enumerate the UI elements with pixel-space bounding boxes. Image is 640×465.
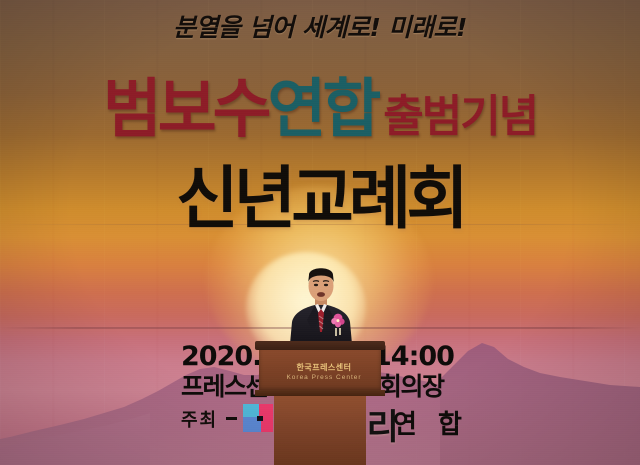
- speaker-person: [282, 262, 360, 344]
- headline-part-launch: 출범기념: [383, 91, 537, 142]
- speaker-mouth: [317, 292, 325, 297]
- banner-tagline: 분열을 넘어 세계로! 미래로!: [0, 8, 640, 44]
- host-dash-divider: [226, 417, 237, 420]
- podium-plaque-korean: 한국프레스센터: [259, 362, 389, 373]
- podium-front-panel: 한국프레스센터 Korea Press Center: [259, 349, 381, 391]
- headline-part-union: 연합: [267, 73, 377, 147]
- podium-plaque-english: Korea Press Center: [259, 374, 389, 381]
- host-organizer-secondary: 연 합: [393, 404, 468, 441]
- podium-top-edge: [255, 341, 385, 350]
- event-photo: 분열을 넘어 세계로! 미래로! 범보수연합출범기념 신년교례회 2020. 1…: [0, 0, 640, 465]
- headline-part-conservative: 범보수: [103, 73, 268, 147]
- banner-main-title: 신년교례회: [0, 143, 640, 242]
- podium: 한국프레스센터 Korea Press Center: [255, 341, 385, 465]
- host-label: 주최: [181, 406, 218, 432]
- podium-base: [274, 396, 366, 465]
- banner-headline: 범보수연합출범기념: [0, 58, 640, 150]
